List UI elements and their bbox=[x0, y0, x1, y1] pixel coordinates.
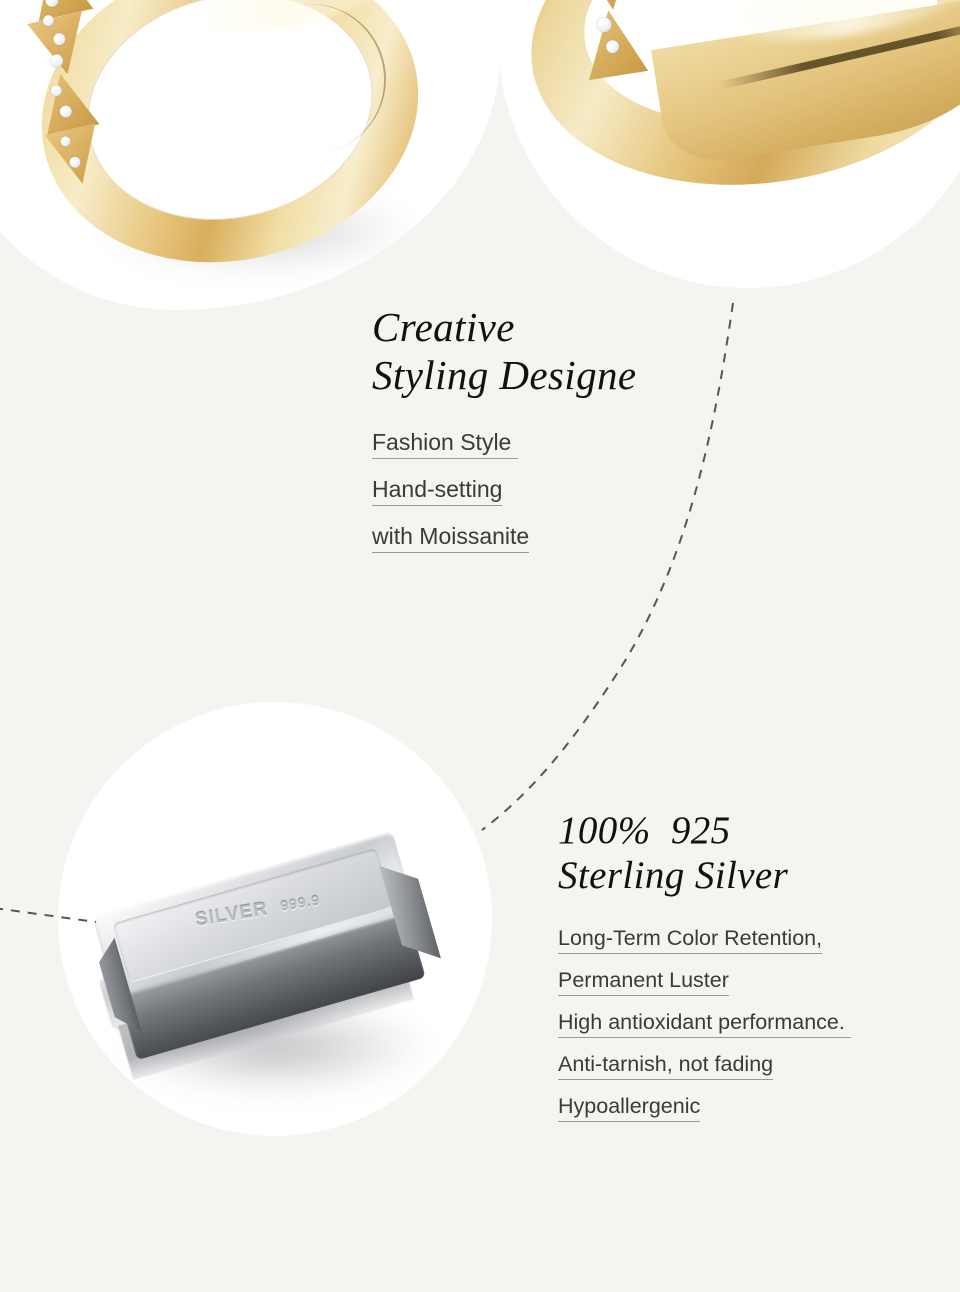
gold-ring-body bbox=[40, 0, 420, 260]
creative-body-line-3: with Moissanite bbox=[372, 523, 529, 553]
creative-body-line-2: Hand-setting bbox=[372, 476, 502, 506]
ring-facet bbox=[27, 11, 95, 80]
list-item: Anti-tarnish, not fading bbox=[558, 1052, 851, 1080]
silver-body-line-3: High antioxidant performance. bbox=[558, 1010, 851, 1038]
closeup-ring-band bbox=[509, 0, 960, 247]
gold-ring-closeup-circle bbox=[498, 0, 960, 288]
list-item: Long-Term Color Retention, bbox=[558, 926, 851, 954]
silver-body-list: Long-Term Color Retention, Permanent Lus… bbox=[558, 926, 851, 1122]
list-item: Fashion Style bbox=[372, 429, 636, 459]
list-item: High antioxidant performance. bbox=[558, 1010, 851, 1038]
silver-heading-line-1: 100% 925 bbox=[558, 808, 851, 853]
silver-body-line-5: Hypoallergenic bbox=[558, 1094, 700, 1122]
creative-body-list: Fashion Style Hand-setting with Moissani… bbox=[372, 429, 636, 553]
list-item: Hypoallergenic bbox=[558, 1094, 851, 1122]
creative-heading-line-1: Creative bbox=[372, 304, 636, 352]
sterling-silver-text-block: 100% 925 Sterling Silver Long-Term Color… bbox=[558, 808, 851, 1136]
gold-pave-ring-photo bbox=[0, 0, 500, 310]
list-item: Hand-setting bbox=[372, 476, 636, 506]
creative-heading-line-2: Styling Designe bbox=[372, 352, 636, 400]
list-item: with Moissanite bbox=[372, 523, 636, 553]
silver-body-line-2: Permanent Luster bbox=[558, 968, 729, 996]
silver-bullion-bar-circle: SILVER 999.9 SILVER 999.9 bbox=[58, 702, 492, 1136]
list-item: Permanent Luster bbox=[558, 968, 851, 996]
product-feature-banner: SILVER 999.9 SILVER 999.9 Creative Styli bbox=[0, 0, 960, 1292]
silver-heading-line-2: Sterling Silver bbox=[558, 853, 851, 898]
creative-styling-text-block: Creative Styling Designe Fashion Style H… bbox=[372, 304, 636, 570]
silver-body-line-4: Anti-tarnish, not fading bbox=[558, 1052, 773, 1080]
silver-body-line-1: Long-Term Color Retention, bbox=[558, 926, 822, 954]
creative-body-line-1: Fashion Style bbox=[372, 429, 518, 459]
